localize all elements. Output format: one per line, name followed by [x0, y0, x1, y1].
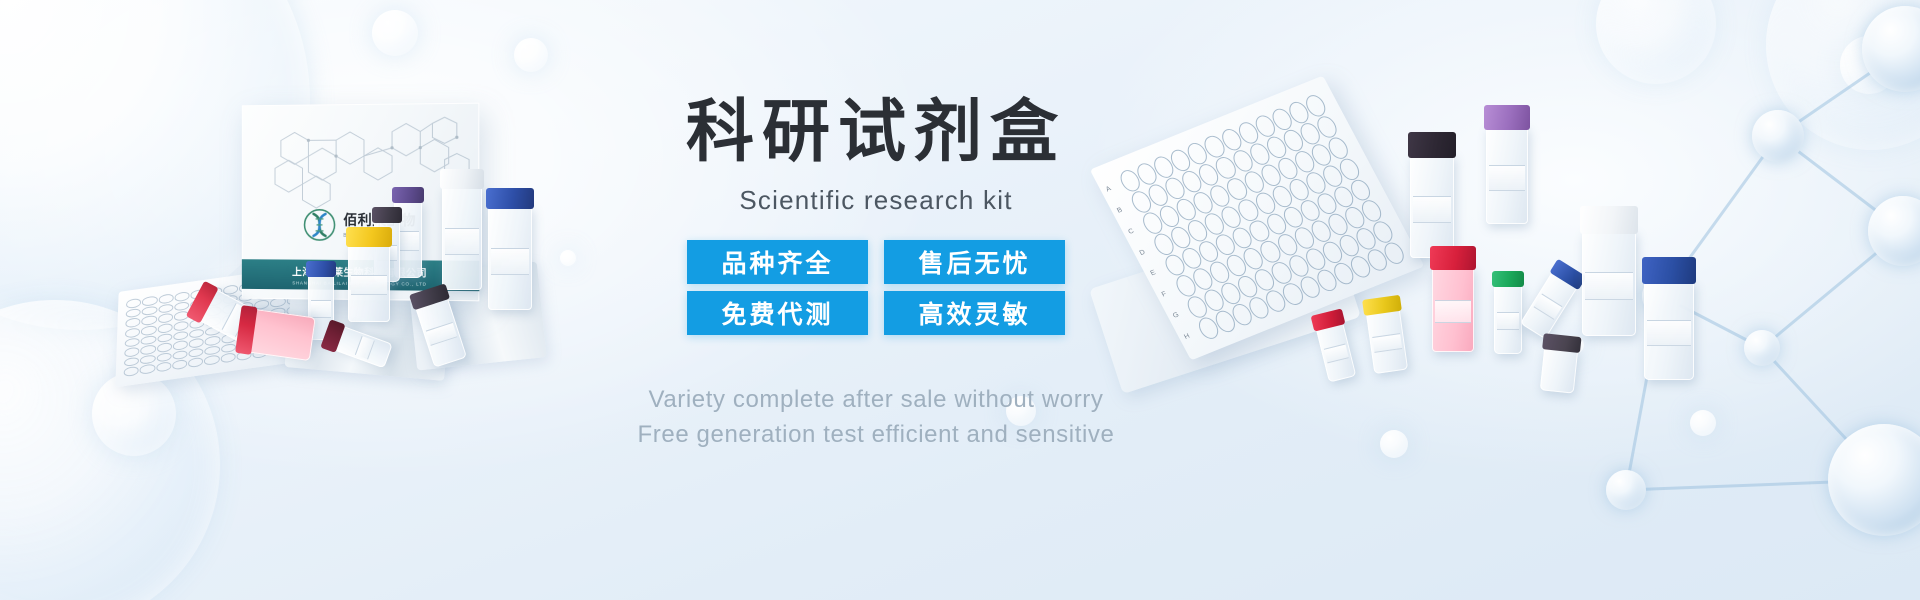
microplate-well	[204, 355, 219, 366]
promo-banner: 佰利莱生物 BAILILAI BIOLOGY 上海佰利莱生物科技有限公司 SHA…	[0, 0, 1920, 600]
vial-label	[354, 336, 374, 360]
reagent-bottle	[1582, 230, 1636, 336]
vial-label	[1372, 333, 1402, 353]
vial-cap-dark	[1542, 333, 1581, 353]
microplate-well	[125, 317, 140, 328]
reagent-vial	[1520, 271, 1578, 339]
microplate-well	[140, 344, 155, 355]
banner-text-block: 科研试剂盒 Scientific research kit 品种齐全售后无忧免费…	[556, 96, 1196, 452]
microplate-well	[173, 330, 188, 341]
microplate-well	[174, 301, 189, 312]
microplate-well	[156, 362, 171, 373]
vial-label	[1647, 320, 1691, 346]
vial-label	[1324, 344, 1349, 363]
feature-badge-2[interactable]: 售后无忧	[884, 240, 1065, 284]
microplate-well	[156, 352, 171, 363]
microplate-well	[220, 353, 235, 364]
tagline-line-1: Variety complete after sale without worr…	[556, 383, 1196, 417]
vial-cap-yellow	[1362, 295, 1402, 316]
page-title: 科研试剂盒	[556, 96, 1196, 169]
microplate-well	[173, 340, 188, 351]
reagent-bottle	[1410, 154, 1454, 258]
molecule-node-icon	[1828, 424, 1920, 536]
microplate-well	[157, 323, 172, 334]
microplate-well	[156, 342, 171, 353]
product-photo-left: 佰利莱生物 BAILILAI BIOLOGY 上海佰利莱生物科技有限公司 SHA…	[112, 92, 552, 392]
microplate-well	[142, 296, 157, 307]
vial-cap-dark	[1408, 132, 1456, 158]
vial-label	[1497, 312, 1519, 330]
vial-label	[1585, 272, 1633, 300]
microplate-well	[125, 327, 140, 338]
molecule-node-icon	[1606, 470, 1646, 510]
feature-badge-list: 品种齐全售后无忧免费代测高效灵敏	[687, 240, 1065, 335]
reagent-vial	[1316, 321, 1357, 382]
water-bubble-icon	[1596, 0, 1716, 84]
water-bubble-icon	[1690, 410, 1716, 436]
reagent-bottle	[348, 244, 390, 322]
microplate-well	[125, 337, 140, 348]
reagent-bottle	[488, 206, 532, 310]
feature-badge-4[interactable]: 高效灵敏	[884, 291, 1065, 335]
microplate-well	[173, 320, 188, 331]
vial-cap-purple	[392, 187, 424, 203]
reagent-bottle	[1486, 126, 1528, 224]
feature-badge-1[interactable]: 品种齐全	[687, 240, 868, 284]
vial-cap-green	[1492, 271, 1524, 287]
vial-label	[426, 322, 458, 346]
reagent-vial	[1540, 346, 1578, 393]
vial-label	[1435, 300, 1471, 322]
vial-label	[311, 300, 331, 317]
tagline-group: Variety complete after sale without worr…	[556, 383, 1196, 451]
water-bubble-icon	[1380, 430, 1408, 458]
water-bubble-icon	[514, 38, 548, 72]
vial-label	[1413, 196, 1451, 223]
microplate-well	[172, 350, 187, 361]
microplate-well	[140, 354, 155, 365]
vial-label	[1489, 165, 1525, 190]
reagent-vial	[248, 309, 316, 361]
microplate-well	[124, 366, 139, 377]
microplate-well	[124, 347, 139, 358]
microplate-well	[141, 325, 156, 336]
reagent-bottle	[1432, 266, 1474, 352]
tagline-line-2: Free generation test efficient and sensi…	[556, 418, 1196, 452]
vial-label	[445, 228, 479, 255]
vial-cap-yellow	[346, 227, 392, 247]
microplate-well	[142, 305, 157, 316]
vial-cap-violet	[1484, 105, 1530, 130]
microplate-well	[189, 338, 204, 349]
microplate-well	[140, 364, 155, 375]
molecule-node-icon	[1868, 196, 1920, 266]
microplate-well	[126, 308, 141, 319]
microplate-well	[157, 332, 172, 343]
page-subtitle: Scientific research kit	[556, 185, 1196, 216]
microplate-well	[141, 335, 156, 346]
vial-label	[351, 275, 387, 295]
reagent-bottle	[1644, 280, 1694, 380]
vial-cap-white	[440, 169, 484, 189]
microplate-well	[158, 293, 173, 304]
microplate-well	[126, 298, 141, 309]
microplate-well	[204, 345, 219, 356]
vial-label	[491, 248, 529, 275]
vial-cap-blue	[306, 261, 336, 277]
microplate-well	[124, 356, 139, 367]
microplate-well	[189, 328, 204, 339]
vial-cap-blue	[1642, 257, 1696, 284]
reagent-bottle	[442, 186, 482, 290]
microplate-well	[188, 357, 203, 368]
vial-cap-dark	[372, 207, 402, 223]
vial-label	[1534, 293, 1563, 319]
reagent-vial	[1494, 284, 1522, 354]
vial-label	[397, 231, 419, 251]
vial-cap-white	[1580, 206, 1638, 234]
molecule-node-icon	[1862, 6, 1920, 92]
microplate-well	[157, 313, 172, 324]
water-bubble-icon	[372, 10, 418, 56]
microplate-well	[205, 335, 220, 346]
microplate-well	[158, 303, 173, 314]
vial-cap-blue	[486, 188, 534, 209]
vial-cap-red	[1430, 246, 1476, 270]
feature-badge-3[interactable]: 免费代测	[687, 291, 868, 335]
dna-helix-icon	[303, 208, 337, 242]
reagent-vial	[1366, 308, 1408, 374]
microplate-well	[172, 359, 187, 370]
microplate-well	[188, 347, 203, 358]
microplate-well	[174, 291, 189, 302]
microplate-well	[220, 343, 235, 354]
microplate-well	[141, 315, 156, 326]
